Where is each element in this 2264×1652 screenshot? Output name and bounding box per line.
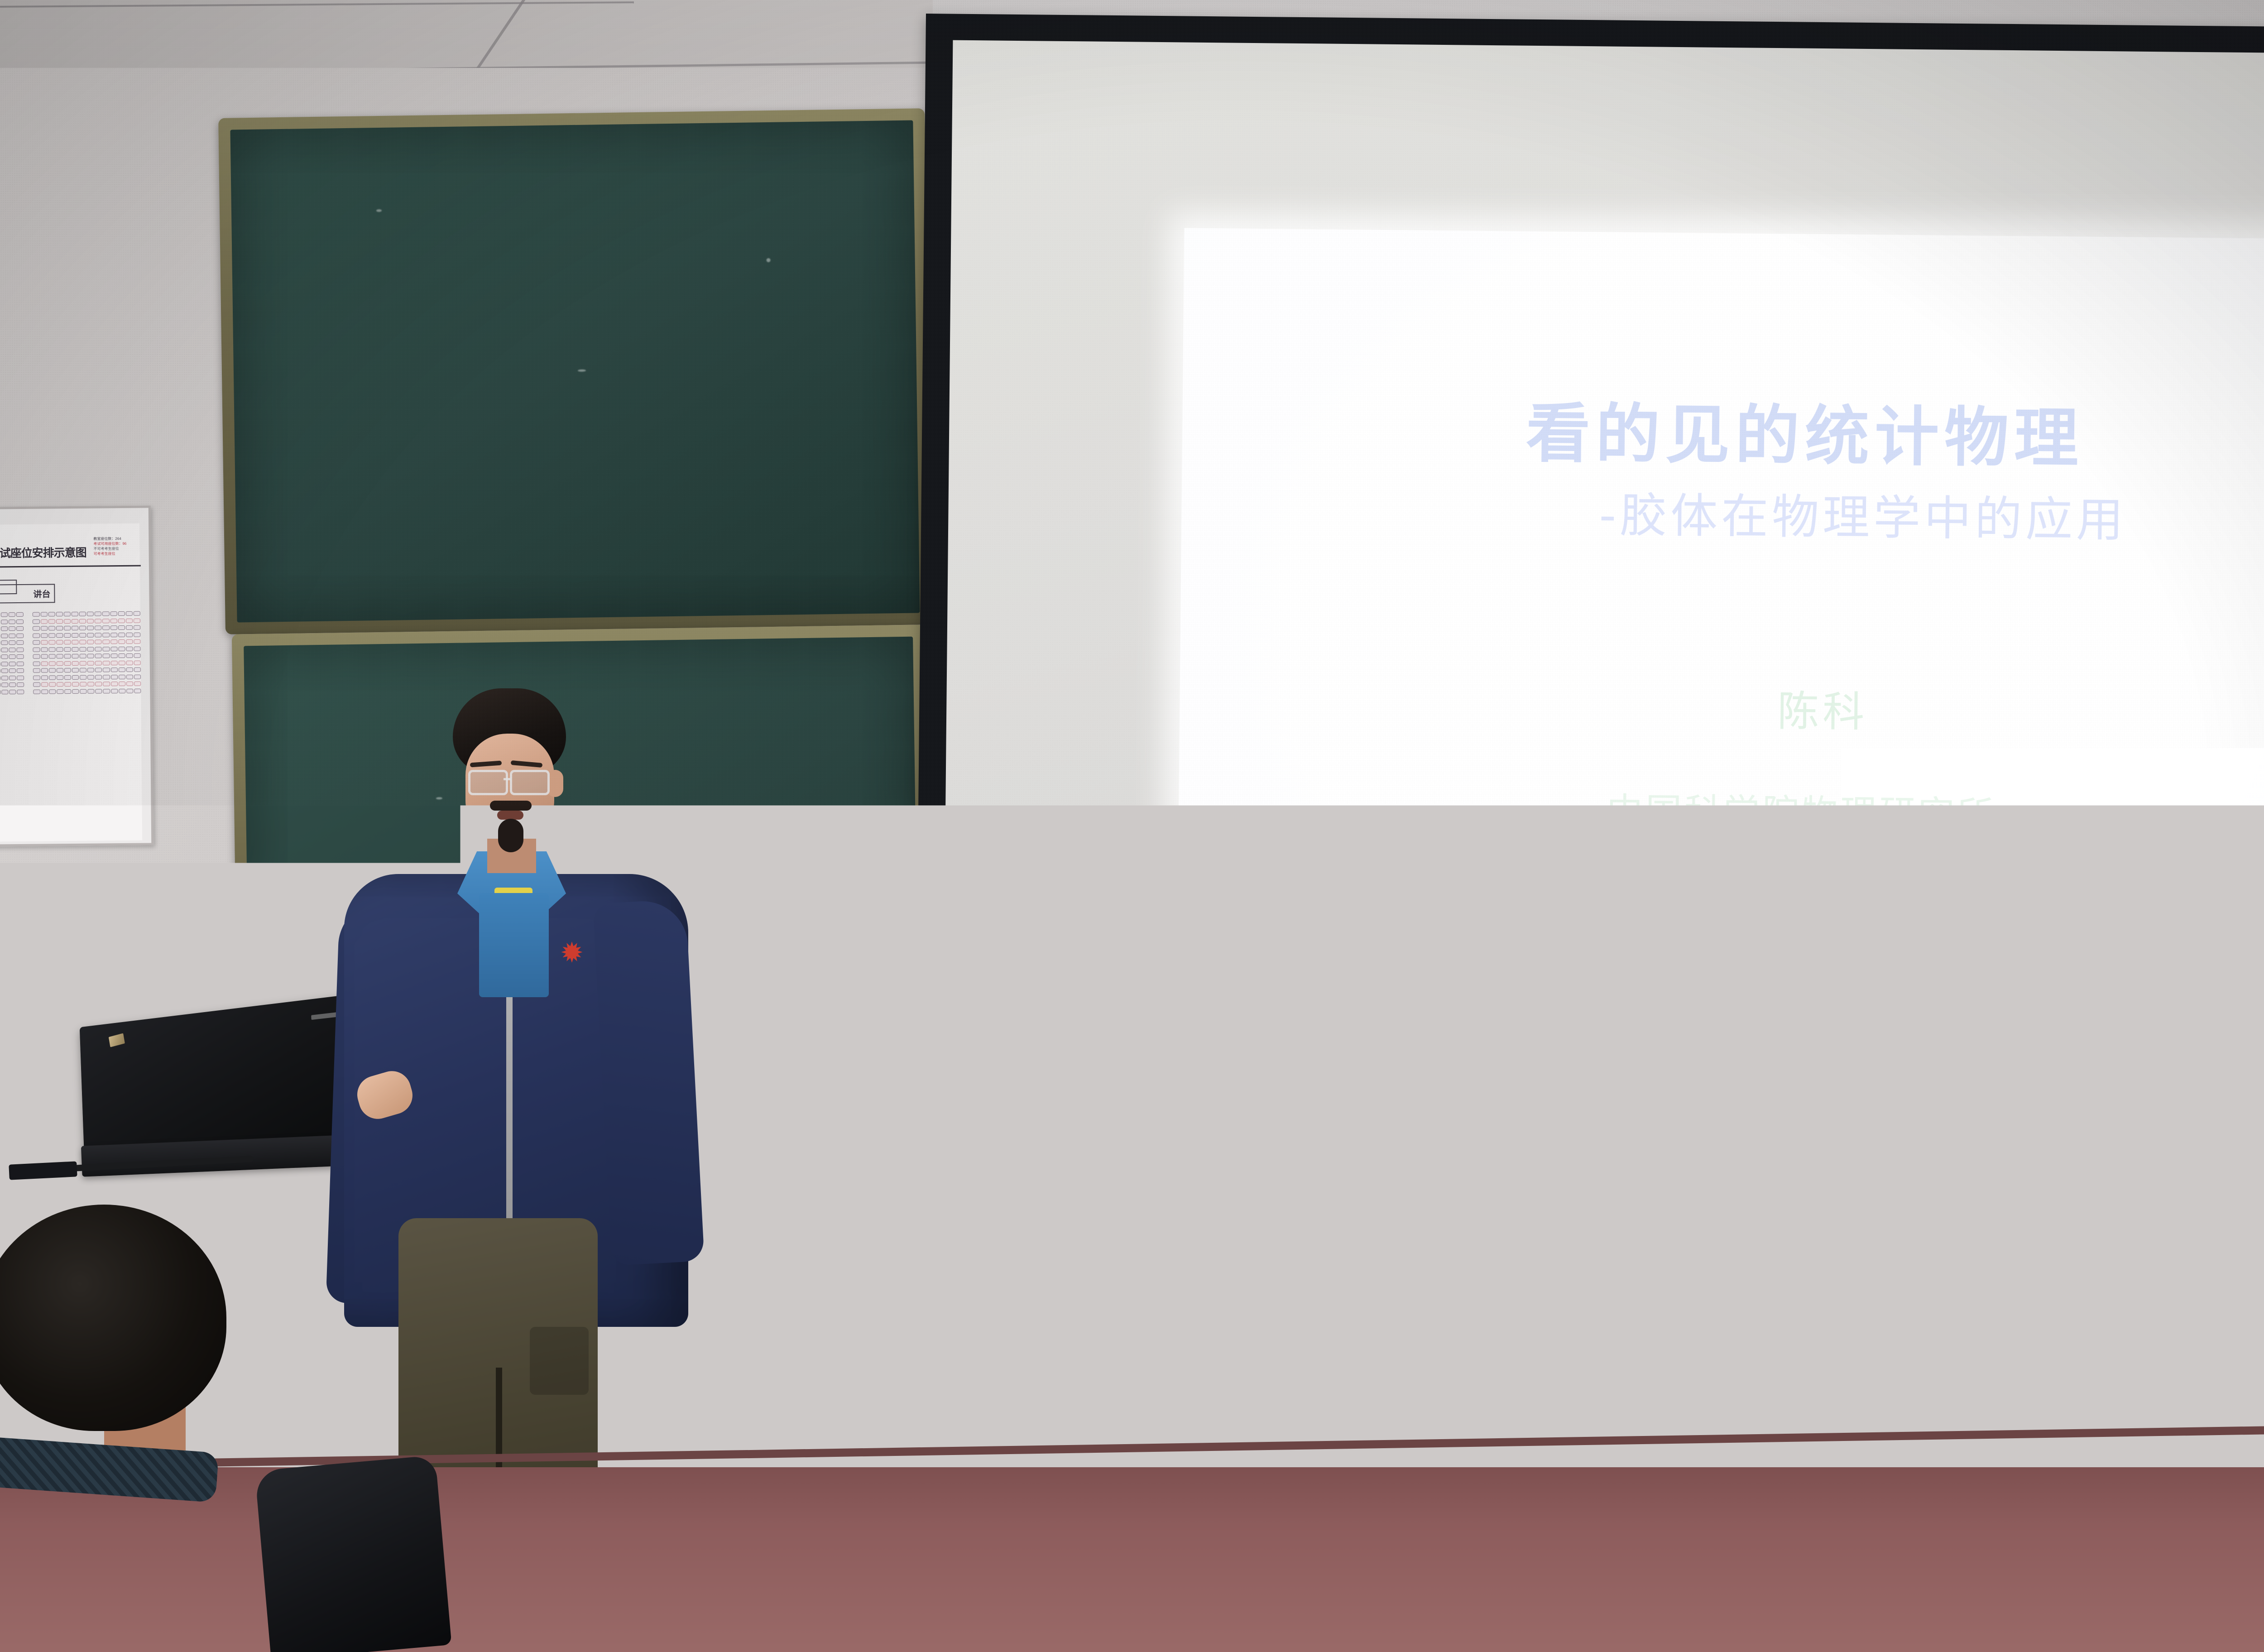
seat-row [0,632,140,638]
seat-cell [126,632,133,637]
seat-cell [87,689,94,693]
seat-cell [103,661,110,665]
legend-item: 可考考生座位 [94,551,144,557]
ceiling-seam [0,1,634,8]
seat-cell [17,682,24,687]
seat-cell [64,689,71,693]
seat-cell [17,633,24,638]
seat-cell [134,660,141,665]
seat-cell [24,661,32,665]
seat-cell [134,688,141,693]
backpack[interactable] [254,1455,451,1652]
seat-cell [80,668,86,672]
seat-cell [33,626,39,631]
seat-cell [9,634,15,638]
seat-cell [64,640,71,644]
seat-cell [64,675,71,679]
seat-cell [48,640,55,644]
seat-cell [118,618,125,623]
seat-row [0,625,140,631]
glasses-bridge [504,778,511,780]
seat-cell [119,674,125,679]
seat-cell [56,633,63,638]
seat-cell [33,633,40,638]
seat-cell [110,633,117,637]
seat-cell [48,626,55,630]
seat-cell [134,653,140,658]
poster-title: 考试座位安排示意图 [0,544,86,561]
seat-cell [17,689,24,694]
speaker-right-arm [593,899,705,1266]
seat-cell [9,640,16,645]
seat-cell [87,619,94,623]
seat-cell [79,640,86,644]
seat-row [0,618,140,624]
seat-cell [64,633,71,637]
seat-cell [102,625,109,630]
seat-cell [49,689,56,694]
seat-cell [24,640,32,644]
seat-cell [56,647,63,652]
screen-surface: 看的见的统计物理 -胶体在物理学中的应用 陈科 中国科学院物理研究所 软物质实验… [942,40,2264,1219]
seat-cell [41,689,48,694]
seat-cell [103,647,110,651]
seat-cell [103,653,110,658]
seat-cell [41,682,48,687]
seat-cell [95,653,102,658]
seat-cell [72,619,78,623]
seat-cell [110,619,117,623]
seat-cell [126,618,133,623]
seat-cell [118,668,125,672]
seat-cell [110,647,117,651]
seat-row [0,682,141,687]
seat-cell [79,626,86,630]
seat-cell [134,625,140,630]
seat-cell [95,639,102,644]
seat-cell [17,661,24,666]
seat-cell [87,640,94,644]
seat-cell [41,654,48,658]
exam-seating-chart-poster: 考试座位安排示意图 教室座位数：264 考试可用座位数：96 不可考考生座位 可… [0,505,153,846]
seat-cell [1,654,8,659]
seat-cell [25,682,33,686]
seat-cell [24,619,32,623]
seat-cell [64,647,71,651]
seat-cell [72,675,79,679]
seat-cell [9,662,16,666]
seat-cell [41,647,48,652]
seat-cell [72,668,79,672]
seat-cell [1,626,8,631]
seat-cell [64,612,71,616]
seat-cell [64,668,71,672]
slide-author: 陈科 [1180,672,2264,744]
seat-cell [49,682,56,687]
seat-cell [95,682,102,686]
affiliation-line: 软物质实验室 [1178,834,2264,899]
seat-cell [33,661,40,666]
seat-cell [118,611,125,616]
seat-cell [34,689,40,694]
seat-row [0,646,141,652]
seat-cell [110,639,117,644]
seat-cell [103,689,110,693]
seat-cell [103,682,110,686]
glasses-lens-left [468,770,508,795]
speaker-goatee [498,819,523,852]
seat-cell [87,633,94,637]
seat-cell [72,640,78,644]
seat-cell [1,619,8,624]
seat-cell [0,640,0,645]
seat-cell [72,682,79,687]
seat-cell [41,675,48,680]
seat-cell [25,689,33,693]
ceiling-seam [471,0,537,77]
seat-cell [16,612,23,617]
seat-row [0,668,141,673]
seat-cell [134,674,141,679]
seat-cell [95,668,102,672]
seat-cell [110,611,117,616]
seat-cell [110,675,117,679]
seat-cell [80,661,86,665]
seat-cell [102,611,109,616]
seat-cell [119,688,125,693]
seat-cell [111,682,118,686]
junction-box-vents [766,1273,816,1274]
podium-label: 讲台 [33,587,50,600]
seat-cell [24,612,32,616]
seat-cell [72,654,79,658]
seat-cell [103,639,110,644]
seat-cell [41,640,48,644]
seat-cell [126,653,133,658]
seat-cell [25,675,33,679]
seat-row [0,688,141,694]
seat-cell [64,661,71,665]
seat-cell [10,690,16,694]
seat-cell [56,640,63,644]
seat-cell [134,646,140,651]
seat-cell [24,654,32,658]
glasses-lens-right [510,770,550,795]
poster-legend: 教室座位数：264 考试可用座位数：96 不可考考生座位 可考考生座位 [93,536,144,557]
seat-cell [72,626,78,630]
seat-cell [1,668,8,673]
seat-cell [87,626,94,630]
seat-cell [87,647,94,651]
seat-cell [40,612,47,616]
seat-cell [134,611,140,616]
seat-cell [34,682,40,687]
seat-cell [110,625,117,630]
seat-cell [103,633,110,637]
seat-cell [9,648,16,652]
projected-slide: 看的见的统计物理 -胶体在物理学中的应用 陈科 中国科学院物理研究所 软物质实验… [1175,228,2264,1177]
seat-row [0,611,140,617]
seat-cell [110,668,117,672]
seat-cell [41,633,48,638]
seat-cell [0,662,0,666]
seat-cell [56,612,62,616]
seat-cell [48,619,55,624]
slide-title: 看的见的统计物理 [1182,377,2264,482]
seat-cell [110,661,117,665]
seat-cell [1,640,8,645]
seat-cell [24,633,32,637]
seat-cell [33,647,40,652]
lecture-hall-photo: 考试座位安排示意图 教室座位数：264 考试可用座位数：96 不可考考生座位 可… [0,0,2264,1652]
seat-cell [134,668,141,672]
seat-cell [17,640,24,645]
seat-cell [125,611,132,616]
seat-cell [64,654,71,658]
seat-cell [48,612,55,616]
seat-cell [9,654,16,659]
seat-row [0,653,141,659]
seat-cell [111,689,118,693]
projection-screen: 看的见的统计物理 -胶体在物理学中的应用 陈科 中国科学院物理研究所 软物质实验… [914,14,2264,1283]
slide-subtitle: -胶体在物理学中的应用 [1181,472,2264,552]
seat-cell [79,633,86,637]
seat-cell [79,612,86,616]
seat-cell [33,654,40,659]
seat-cell [48,668,55,672]
seat-cell [134,639,140,644]
seat-cell [64,682,71,687]
seat-cell [118,660,125,665]
seat-cell [56,654,63,658]
seat-cell [118,639,125,644]
seat-cell [95,611,101,616]
seat-cell [126,639,133,644]
seat-cell [87,668,94,672]
seat-cell [95,647,102,651]
seat-cell [126,688,133,693]
lectern-plate [312,1340,346,1354]
seat-cell [24,626,32,630]
seat-cell [64,619,71,623]
seat-cell [1,612,8,617]
seat-cell [80,689,86,693]
seat-cell [118,646,125,651]
seat-cell [79,619,86,623]
seat-cell [72,647,78,651]
seat-cell [80,675,86,679]
seat-cell [24,668,32,672]
seat-cell [64,626,71,630]
seat-cell [56,619,63,624]
seat-cell [0,682,0,687]
seat-cell [95,625,101,630]
seat-cell [9,668,16,673]
seat-cell [33,640,40,645]
seat-cell [87,661,94,665]
seat-cell [80,654,86,658]
seat-cell [119,682,125,686]
seat-cell [126,660,133,665]
seat-cell [126,674,133,679]
seat-cell [33,619,39,624]
poster-podium-box: 讲台 [0,584,55,603]
speaker-moustache [490,801,532,811]
seat-cell [72,612,78,616]
seat-cell [80,682,86,687]
seat-cell [49,675,56,680]
seat-cell [126,682,133,686]
seat-cell [0,654,0,659]
seat-cell [57,689,63,694]
chalkboard-upper [218,108,932,634]
seat-cell [57,668,63,672]
seat-cell [96,689,102,693]
seat-cell [79,647,86,651]
seat-cell [126,668,133,672]
seat-cell [87,682,94,687]
seat-cell [9,619,15,624]
seat-cell [40,619,47,624]
seat-cell [17,654,24,659]
seat-cell [95,633,101,637]
seat-cell [41,661,48,666]
seat-cell [9,676,16,680]
seat-cell [56,626,63,630]
seat-cell [48,661,55,666]
seat-row [0,674,141,680]
laptop-logo-icon [109,1033,125,1047]
seat-cell [1,662,8,666]
seat-cell [24,647,32,651]
seat-cell [118,625,125,630]
seat-grid [0,611,141,697]
seat-cell [9,626,15,631]
slide-affiliation: 中国科学院物理研究所 软物质实验室 [1178,780,2264,899]
seat-cell [87,612,94,616]
junction-box-lid [769,1210,816,1258]
screen-border: 看的见的统计物理 -胶体在物理学中的应用 陈科 中国科学院物理研究所 软物质实验… [914,14,2264,1251]
seat-cell [134,618,140,623]
chalkboard-surface [230,120,920,623]
seat-cell [9,682,16,687]
seat-cell [17,675,24,680]
seat-cell [48,647,55,652]
seat-cell [57,675,63,680]
seat-cell [118,632,125,637]
seat-cell [95,619,101,623]
seat-cell [48,654,55,658]
seat-cell [33,675,40,680]
speaker-mouth [497,811,523,820]
seat-cell [126,625,133,630]
seat-cell [57,682,63,687]
seat-cell [1,634,8,638]
seat-cell [1,690,8,694]
seat-cell [1,648,8,652]
seat-cell [103,668,110,672]
seat-cell [9,612,15,617]
seat-cell [56,661,63,666]
seat-cell [41,626,48,630]
speaker-shirt [479,893,549,997]
seat-cell [102,619,109,623]
seat-cell [17,647,24,652]
seat-cell [110,653,117,658]
seat-cell [16,619,23,624]
seat-cell [41,668,48,672]
seat-cell [103,675,110,679]
trouser-cargo-pocket [530,1327,589,1395]
seat-cell [95,661,102,665]
screen-roller-cap [901,1243,936,1277]
seat-cell [0,676,0,680]
seat-cell [72,633,78,637]
seat-cell [126,646,133,651]
seat-cell [95,675,102,679]
seat-cell [118,653,125,658]
seat-cell [72,689,79,693]
seat-cell [134,682,141,686]
seat-cell [33,612,39,617]
seat-cell [0,668,0,673]
seat-cell [87,654,94,658]
seat-cell [0,690,1,694]
seat-row [0,660,141,666]
seat-cell [0,648,0,652]
seat-cell [87,675,94,679]
seat-cell [17,668,24,673]
seat-cell [134,632,140,637]
seat-cell [1,682,8,687]
seat-cell [48,633,55,638]
seat-cell [33,668,40,673]
seat-cell [1,676,8,680]
seat-row [0,639,140,645]
jacket-logo-icon: ✹ [557,940,587,967]
seat-cell [16,626,23,631]
seat-cell [72,661,79,665]
